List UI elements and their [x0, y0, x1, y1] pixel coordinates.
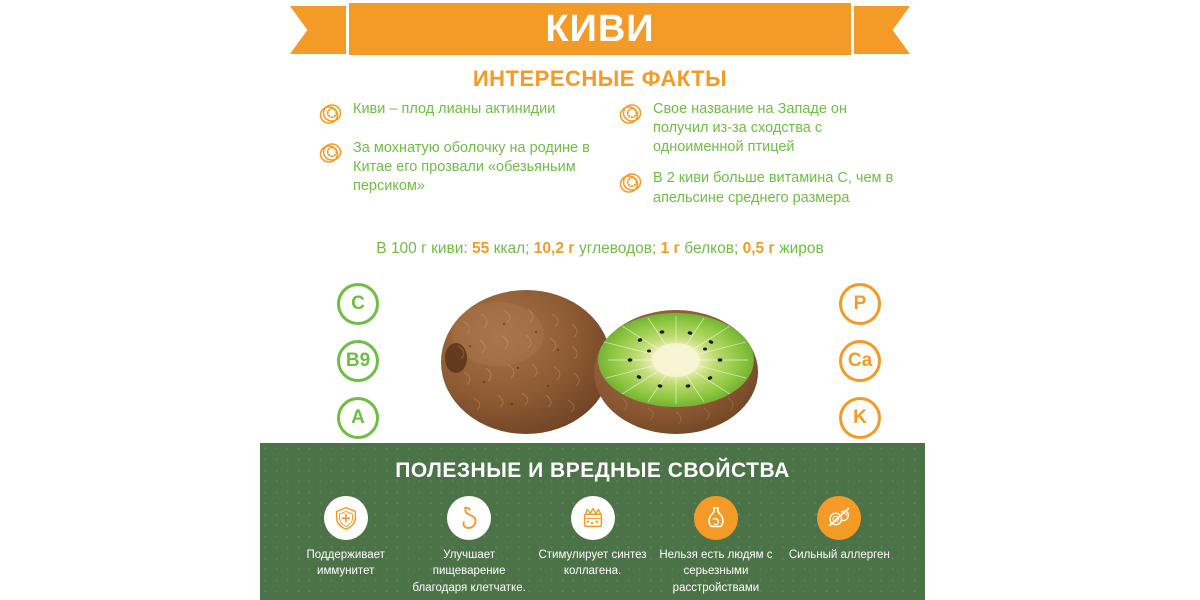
fact-item: Киви – плод лианы актинидии: [318, 100, 598, 127]
kiwi-infographic: КИВИ ИНТЕРЕСНЫЕ ФАКТЫ Киви – п: [0, 0, 1200, 600]
property-text: Нельзя есть людям с серьезными расстройс…: [654, 547, 777, 600]
vitamin-badges-right: P Ca K: [820, 283, 900, 439]
page-title: КИВИ: [545, 10, 654, 48]
shield-plus-icon: [324, 496, 368, 540]
digestive-organ-icon: [694, 496, 738, 540]
kiwi-slice-icon: [318, 101, 344, 127]
nutrition-label: углеводов;: [575, 240, 661, 257]
property-item: Поддерживает иммунитет: [284, 496, 407, 600]
kiwi-slice-icon: [318, 140, 344, 166]
fact-text: В 2 киви больше витамина С, чем в апельс…: [653, 169, 898, 207]
fact-text: За мохнатую оболочку на родине в Китае е…: [353, 139, 598, 196]
ribbon-body: КИВИ: [346, 0, 854, 58]
fact-text: Свое название на Западе он получил из-за…: [653, 100, 898, 157]
mineral-badge: P: [839, 283, 881, 325]
ribbon-tail-right: [848, 6, 910, 54]
title-ribbon: КИВИ: [290, 0, 910, 62]
mineral-badge: Ca: [839, 340, 881, 382]
nutrition-label: жиров: [775, 240, 824, 257]
allergen-crossed-icon: [817, 496, 861, 540]
nutrition-value: 55: [472, 240, 489, 257]
fact-item: В 2 киви больше витамина С, чем в апельс…: [618, 169, 898, 207]
nutrition-value: 10,2 г: [534, 240, 575, 257]
nutrition-value: 1 г: [661, 240, 680, 257]
nutrition-label: белков;: [680, 240, 743, 257]
fact-item: За мохнатую оболочку на родине в Китае е…: [318, 139, 598, 196]
property-item: Стимулирует синтез коллагена.: [531, 496, 654, 600]
properties-title: ПОЛЕЗНЫЕ И ВРЕДНЫЕ СВОЙСТВА: [260, 459, 925, 483]
fact-text: Киви – плод лианы актинидии: [353, 100, 555, 119]
section-subtitle: ИНТЕРЕСНЫЕ ФАКТЫ: [0, 66, 1200, 92]
kiwi-slice-icon: [618, 170, 644, 196]
vitamin-badge: C: [337, 283, 379, 325]
fact-item: Свое название на Западе он получил из-за…: [618, 100, 898, 157]
facts-column-right: Свое название на Западе он получил из-за…: [618, 100, 898, 220]
vitamin-badge: B9: [337, 340, 379, 382]
vitamin-badge: A: [337, 397, 379, 439]
property-text: Стимулирует синтез коллагена.: [531, 547, 654, 580]
kiwi-slice-icon: [618, 101, 644, 127]
vitamin-badges-left: C B9 A: [318, 283, 398, 439]
properties-list: Поддерживает иммунитет Улучшает пищеваре…: [260, 483, 925, 600]
collagen-icon: [571, 496, 615, 540]
property-text: Улучшает пищеварение благодаря клетчатке…: [407, 547, 530, 596]
properties-panel: ПОЛЕЗНЫЕ И ВРЕДНЫЕ СВОЙСТВА Поддерживает…: [260, 443, 925, 600]
nutrition-label: ккал;: [489, 240, 534, 257]
facts-section: Киви – плод лианы актинидии За мохнатую …: [318, 100, 898, 220]
ribbon-tail-left: [290, 6, 352, 54]
nutrition-value: 0,5 г: [743, 240, 775, 257]
property-item: Нельзя есть людям с серьезными расстройс…: [654, 496, 777, 600]
facts-column-left: Киви – плод лианы актинидии За мохнатую …: [318, 100, 598, 220]
property-item: Улучшает пищеварение благодаря клетчатке…: [407, 496, 530, 600]
stomach-icon: [447, 496, 491, 540]
mineral-badge: K: [839, 397, 881, 439]
property-text: Сильный аллерген: [789, 547, 890, 563]
property-text: Поддерживает иммунитет: [284, 547, 407, 580]
property-item: Сильный аллерген: [778, 496, 901, 600]
nutrition-prefix: В 100 г киви:: [376, 240, 472, 257]
kiwi-fruit-illustration: [408, 276, 808, 456]
nutrition-line: В 100 г киви: 55 ккал; 10,2 г углеводов;…: [0, 240, 1200, 258]
